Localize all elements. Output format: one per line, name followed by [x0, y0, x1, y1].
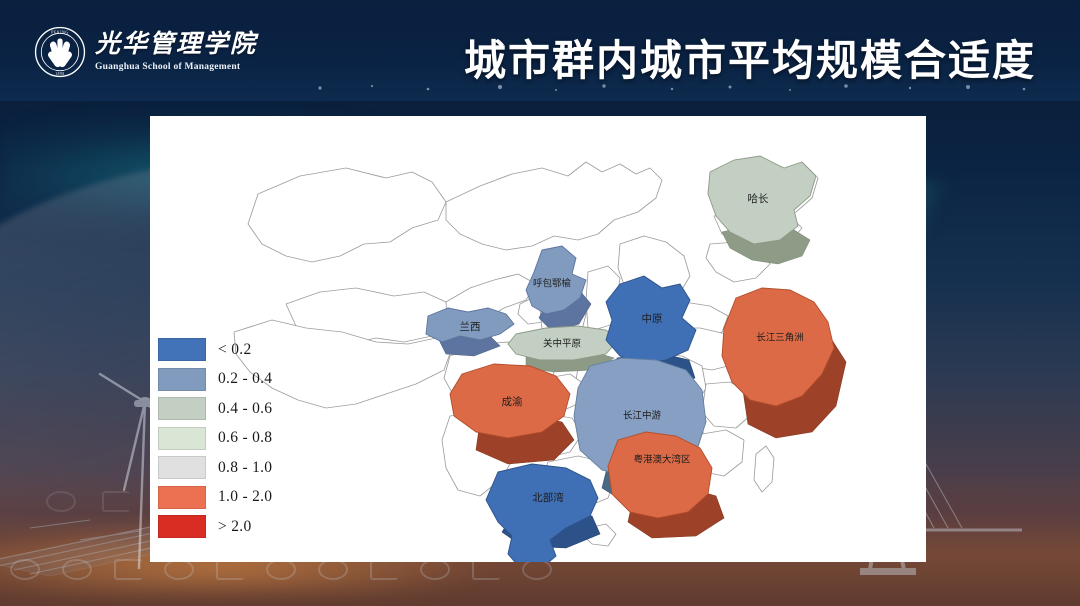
region-label-yangtze-delta: 长江三角洲 [756, 332, 804, 344]
legend-label: 1.0 - 2.0 [218, 488, 272, 506]
legend-label: < 0.2 [218, 341, 252, 359]
svg-text:PEKING: PEKING [51, 30, 68, 34]
region-label-greater-bay-area: 粤港澳大湾区 [633, 454, 691, 466]
region-label-chengyu: 成渝 [502, 395, 523, 408]
region-label-guanzhong: 关中平原 [543, 338, 581, 350]
legend-item: 0.4 - 0.6 [158, 394, 284, 424]
region-label-hubaoeyu: 呼包鄂榆 [533, 278, 572, 290]
logo-chinese-name: 光华管理学院 [95, 32, 257, 58]
legend-swatch [158, 486, 206, 509]
deco-circle [10, 559, 40, 580]
legend-swatch [158, 456, 206, 479]
peking-university-seal-icon: PEKING 1898 [34, 26, 86, 78]
slide-header: PEKING 1898 光华管理学院 Guanghua School of Ma… [0, 0, 1080, 101]
deco-circle [46, 491, 76, 512]
region-label-lanxi: 兰西 [460, 320, 481, 333]
legend-label: 0.2 - 0.4 [218, 370, 272, 388]
page-title: 城市群内城市平均规模合适度 [464, 27, 1036, 88]
presentation-slide: PEKING 1898 光华管理学院 Guanghua School of Ma… [0, 0, 1080, 606]
figure-panel: 哈长 呼包鄂榆 兰西 关中平原 [150, 116, 926, 562]
legend-item: > 2.0 [158, 512, 284, 542]
legend-label: > 2.0 [218, 518, 252, 536]
legend-swatch [158, 515, 206, 538]
legend-label: 0.8 - 1.0 [218, 459, 272, 477]
legend-swatch [158, 427, 206, 450]
svg-text:1898: 1898 [55, 72, 64, 76]
legend-label: 0.4 - 0.6 [218, 400, 272, 418]
logo-english-name: Guanghua School of Management [95, 62, 257, 72]
region-beibu-gulf: 北部湾 [486, 464, 600, 562]
legend-label: 0.6 - 0.8 [218, 429, 272, 447]
legend-item: 0.2 - 0.4 [158, 365, 284, 395]
region-label-middle-yangtze: 长江中游 [623, 410, 662, 422]
region-label-zhongyuan: 中原 [642, 312, 663, 325]
legend-item: 0.6 - 0.8 [158, 424, 284, 454]
legend-item: 1.0 - 2.0 [158, 483, 284, 513]
brand-logo: PEKING 1898 光华管理学院 Guanghua School of Ma… [34, 26, 257, 78]
map-legend: < 0.2 0.2 - 0.4 0.4 - 0.6 0.6 - 0.8 0.8 … [158, 335, 284, 542]
region-label-hachang: 哈长 [748, 192, 769, 205]
legend-item: 0.8 - 1.0 [158, 453, 284, 483]
legend-swatch [158, 397, 206, 420]
legend-swatch [158, 338, 206, 361]
legend-item: < 0.2 [158, 335, 284, 365]
region-label-beibu-gulf: 北部湾 [532, 491, 564, 504]
deco-circle [62, 559, 92, 580]
legend-swatch [158, 368, 206, 391]
deco-bar [114, 559, 142, 580]
deco-bar [102, 491, 130, 512]
